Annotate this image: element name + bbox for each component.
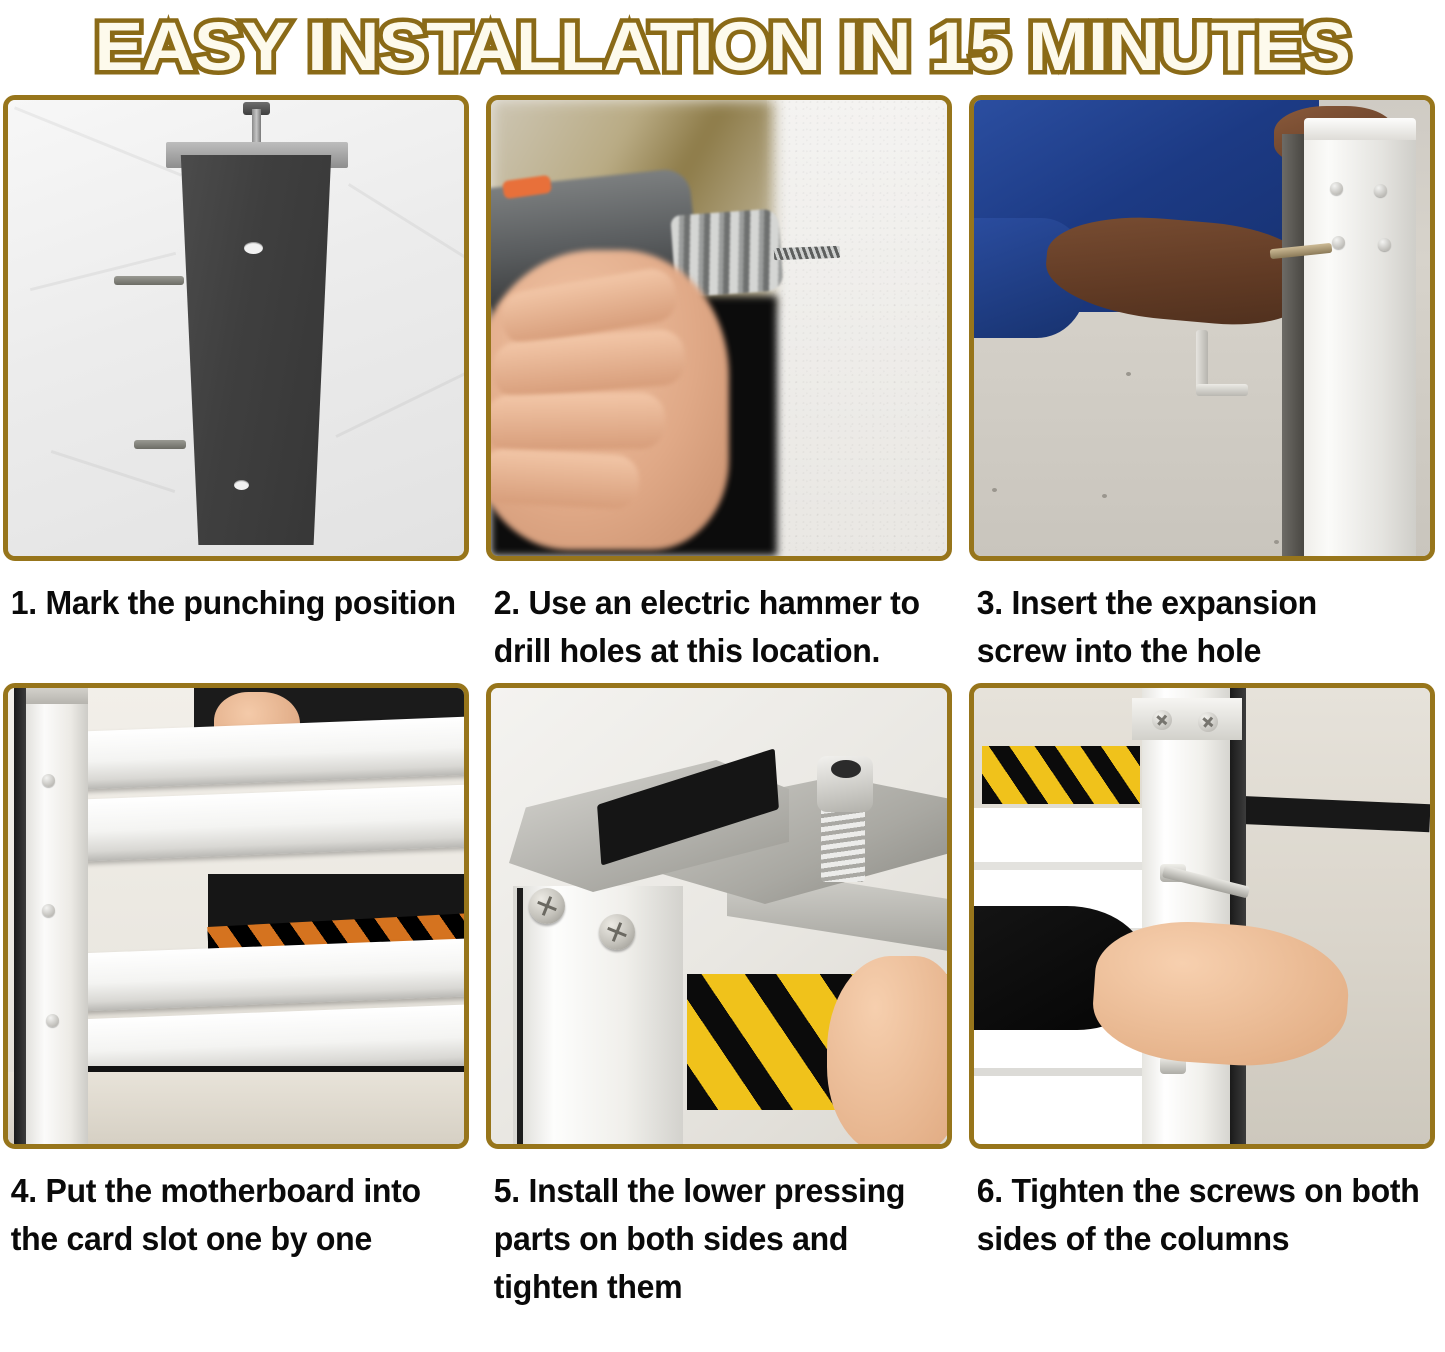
photo-frame-1 [3,95,469,561]
step-caption-5: 5. Install the lower pressing parts on b… [486,1149,950,1311]
thumb-bolt-thread [821,800,865,882]
photo-insert-expansion-screw [974,100,1430,556]
photo-insert-boards-into-slot [8,688,464,1144]
step-card-2: 2. Use an electric hammer to drill holes… [486,95,964,675]
white-column [1142,688,1230,1144]
mounting-hole-lower [234,480,249,490]
hand-supporting-part [827,956,947,1144]
side-pin-lower [134,440,186,449]
vertical-post [26,688,88,1144]
photo-mark-punching-position [8,100,464,556]
step-caption-1: 1. Mark the punching position [3,561,467,627]
post-dark-edge [517,888,523,1144]
post-cap [26,688,88,704]
column-screw [1332,236,1345,249]
side-pin-upper [114,276,184,285]
column-top-plate [1132,698,1242,740]
floor-speck [1274,540,1279,544]
floor-speck [992,488,997,492]
banner: EASY INSTALLATION IN 15 MINUTES [0,0,1445,95]
bracket-screw [599,914,635,950]
bracket-screw [529,888,565,924]
column-dark-edge [1230,688,1246,1144]
mounting-hole-upper [244,242,263,254]
step-card-5: 5. Install the lower pressing parts on b… [486,683,964,1311]
step-caption-4: 4. Put the motherboard into the card slo… [3,1149,467,1263]
white-post [513,886,683,1144]
top-bolt-stem [252,109,261,145]
column-shadow-edge [1282,134,1306,556]
finger [491,448,640,510]
installation-steps-grid: 1. Mark the punching position 2. Use an … [0,95,1445,1311]
column-screw-top-right [1198,712,1218,732]
white-column [1304,126,1416,556]
allen-key-on-floor [1196,330,1208,396]
drill-bit [774,246,840,260]
step-caption-2: 2. Use an electric hammer to drill holes… [486,561,950,675]
column-screw [1378,238,1391,251]
textured-wall [767,100,947,556]
photo-install-lower-pressing-parts [491,688,947,1144]
hazard-stripe [982,746,1140,804]
photo-frame-3 [969,95,1435,561]
finger [491,392,665,451]
photo-drill-holes [491,100,947,556]
post-screw [42,774,55,787]
photo-tighten-column-screws [974,688,1430,1144]
column-screw [1330,182,1343,195]
page-title: EASY INSTALLATION IN 15 MINUTES [95,11,1350,85]
step-caption-3: 3. Insert the expansion screw into the h… [969,561,1433,675]
photo-frame-6 [969,683,1435,1149]
column-top [1304,118,1416,140]
step-card-4: 4. Put the motherboard into the card slo… [3,683,481,1311]
step-card-3: 3. Insert the expansion screw into the h… [969,95,1445,675]
step-card-1: 1. Mark the punching position [3,95,481,675]
column-screw [1374,184,1387,197]
floor-speck [1102,494,1107,498]
post-screw [42,904,55,917]
photo-frame-5 [486,683,952,1149]
photo-frame-2 [486,95,952,561]
step-caption-6: 6. Tighten the screws on both sides of t… [969,1149,1433,1263]
post-screw [46,1014,59,1027]
dark-column-post [176,155,336,545]
floor-speck [1126,372,1131,376]
thumb-bolt-hole [831,760,861,778]
photo-frame-4 [3,683,469,1149]
step-card-6: 6. Tighten the screws on both sides of t… [969,683,1445,1311]
column-screw-top-left [1152,710,1172,730]
